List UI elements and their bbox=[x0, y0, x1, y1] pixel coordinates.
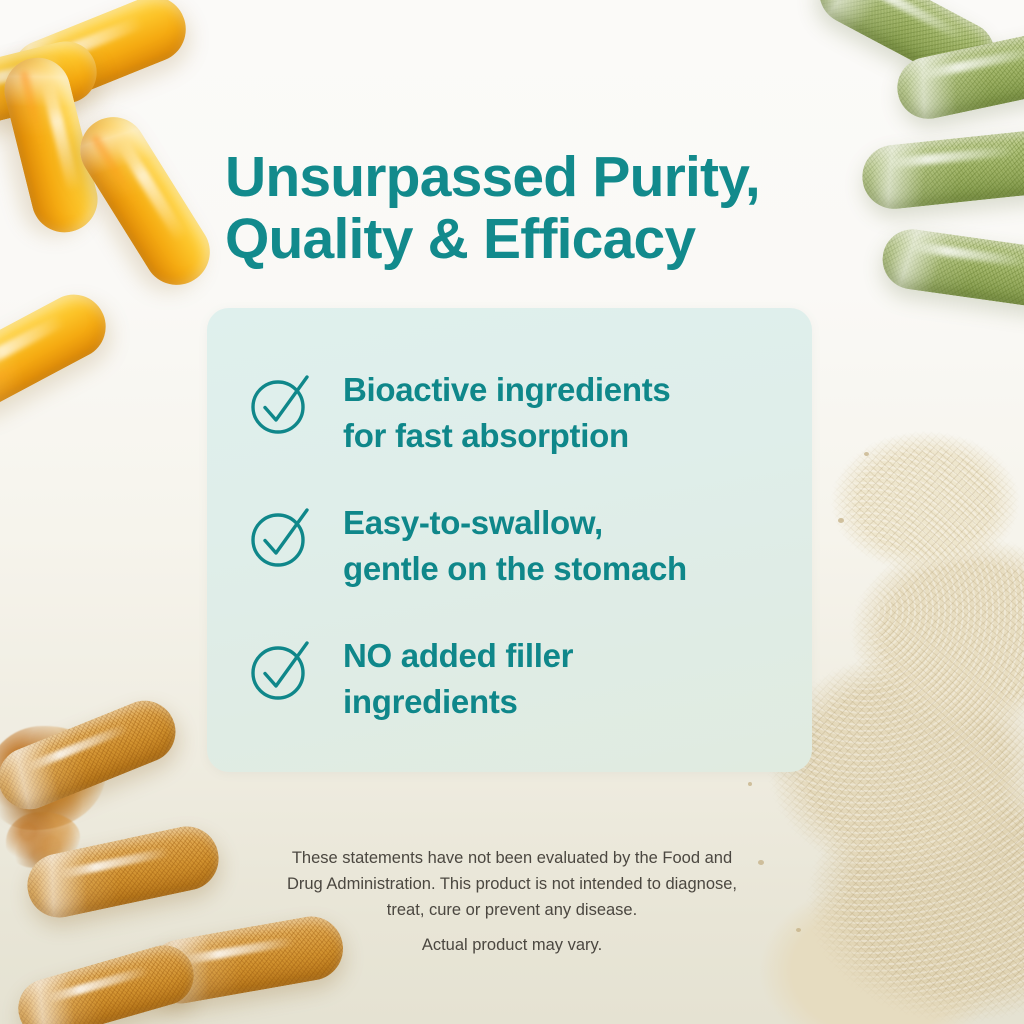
amber-softgel-capsule bbox=[68, 105, 223, 298]
turmeric-powder-crumbs bbox=[0, 726, 106, 830]
benefit-item: Easy-to-swallow, gentle on the stomach bbox=[245, 498, 687, 592]
turmeric-powder-capsule bbox=[144, 911, 348, 1008]
amber-softgel-capsule bbox=[0, 51, 105, 240]
powder-speck bbox=[838, 518, 844, 523]
amber-softgel-capsule bbox=[2, 0, 195, 116]
amber-softgel-capsule bbox=[0, 283, 117, 420]
powder-speck bbox=[864, 452, 869, 456]
powder-speck bbox=[748, 782, 752, 786]
turmeric-powder-capsule bbox=[21, 821, 224, 924]
benefit-label: NO added filler ingredients bbox=[343, 631, 573, 725]
turmeric-powder-crumbs bbox=[6, 812, 80, 868]
amber-softgel-capsule bbox=[0, 35, 103, 131]
product-variation-note: Actual product may vary. bbox=[212, 932, 812, 958]
green-powder-capsule bbox=[809, 0, 1006, 95]
green-powder-capsule bbox=[879, 225, 1024, 310]
benefit-label: Bioactive ingredients for fast absorptio… bbox=[343, 365, 670, 459]
green-powder-capsule bbox=[859, 128, 1024, 212]
turmeric-powder-capsule bbox=[0, 691, 185, 818]
benefit-label: Easy-to-swallow, gentle on the stomach bbox=[343, 498, 687, 592]
green-powder-capsule bbox=[892, 25, 1024, 124]
turmeric-powder-capsule bbox=[11, 938, 201, 1024]
check-circle-icon bbox=[245, 500, 317, 572]
check-circle-icon bbox=[245, 633, 317, 705]
benefits-card: Bioactive ingredients for fast absorptio… bbox=[207, 308, 812, 772]
promo-graphic: Unsurpassed Purity, Quality & Efficacy B… bbox=[0, 0, 1024, 1024]
benefit-item: Bioactive ingredients for fast absorptio… bbox=[245, 365, 670, 459]
page-title: Unsurpassed Purity, Quality & Efficacy bbox=[225, 146, 825, 270]
check-circle-icon bbox=[245, 367, 317, 439]
fda-disclaimer: These statements have not been evaluated… bbox=[212, 845, 812, 923]
benefit-item: NO added filler ingredients bbox=[245, 631, 573, 725]
